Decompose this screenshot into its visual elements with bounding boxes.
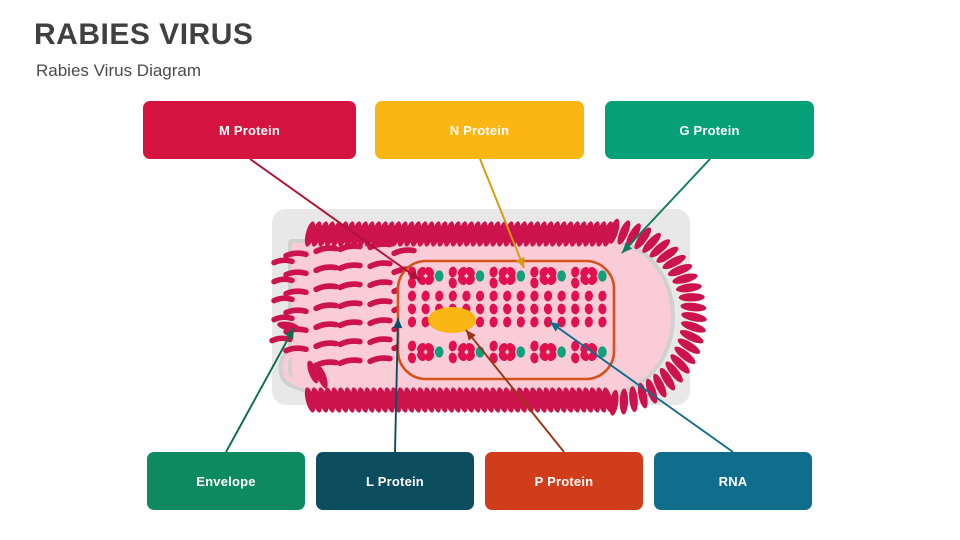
l-protein-blob [428, 307, 476, 333]
label-box-g-protein[interactable]: G Protein [605, 101, 814, 159]
label-text-g-protein: G Protein [679, 123, 739, 138]
label-box-m-protein[interactable]: M Protein [143, 101, 356, 159]
label-text-p-protein: P Protein [535, 474, 594, 489]
label-text-l-protein: L Protein [366, 474, 424, 489]
label-box-rna[interactable]: RNA [654, 452, 812, 510]
label-text-m-protein: M Protein [219, 123, 280, 138]
label-text-envelope: Envelope [196, 474, 255, 489]
label-box-l-protein[interactable]: L Protein [316, 452, 474, 510]
label-text-rna: RNA [719, 474, 748, 489]
label-box-p-protein[interactable]: P Protein [485, 452, 643, 510]
label-text-n-protein: N Protein [450, 123, 510, 138]
label-box-envelope[interactable]: Envelope [147, 452, 305, 510]
diagram-canvas: RABIES VIRUS Rabies Virus Diagram M Prot… [0, 0, 960, 540]
virus-illustration [0, 0, 960, 540]
label-box-n-protein[interactable]: N Protein [375, 101, 584, 159]
